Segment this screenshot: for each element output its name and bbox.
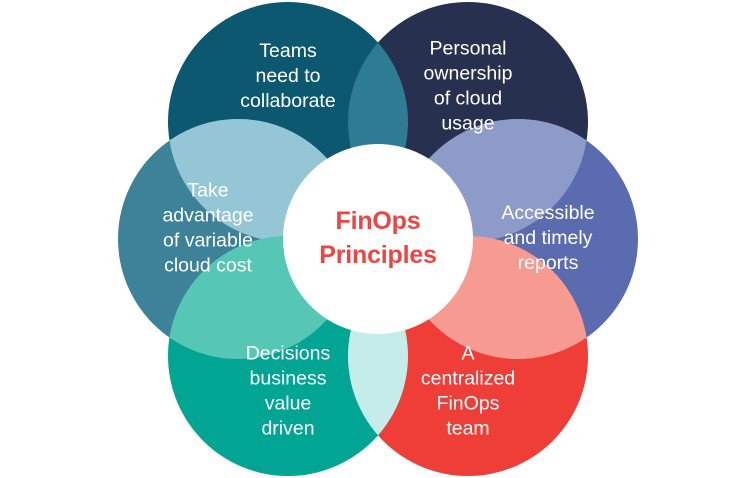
petal-label-line: Accessible <box>501 202 594 224</box>
petal-label-line: reports <box>518 252 579 274</box>
petal-label-line: and timely <box>504 227 593 249</box>
petal-label-line: of cloud <box>434 88 502 110</box>
finops-principles-diagram: Teamsneed tocollaboratePersonalownership… <box>0 0 756 478</box>
petal-label-line: Decisions <box>246 343 331 365</box>
center-circle-group <box>283 144 473 334</box>
petal-label-line: FinOps <box>437 393 500 415</box>
center-title-line: Principles <box>319 241 437 269</box>
center-title-line: FinOps <box>336 207 421 235</box>
petal-label-line: usage <box>441 113 494 135</box>
petal-label-line: team <box>446 418 489 440</box>
petal-label-line: driven <box>261 418 314 440</box>
petal-label-line: centralized <box>421 368 515 390</box>
petal-label-line: need to <box>255 65 320 87</box>
center-circle[interactable] <box>283 144 473 334</box>
petal-label-line: Teams <box>259 40 317 62</box>
petal-label-line: cloud cost <box>164 255 252 277</box>
petal-label-line: value <box>265 393 312 415</box>
petal-label-line: of variable <box>163 230 253 252</box>
petal-label-line: ownership <box>424 63 513 85</box>
petal-label-line: advantage <box>162 205 253 227</box>
petal-label-line: A <box>461 343 474 365</box>
petal-label-line: Take <box>187 180 228 202</box>
petal-label-line: business <box>250 368 327 390</box>
petal-label-line: Personal <box>430 38 507 60</box>
petal-label-line: collaborate <box>240 90 335 112</box>
venn-diagram-canvas: Teamsneed tocollaboratePersonalownership… <box>0 0 756 478</box>
